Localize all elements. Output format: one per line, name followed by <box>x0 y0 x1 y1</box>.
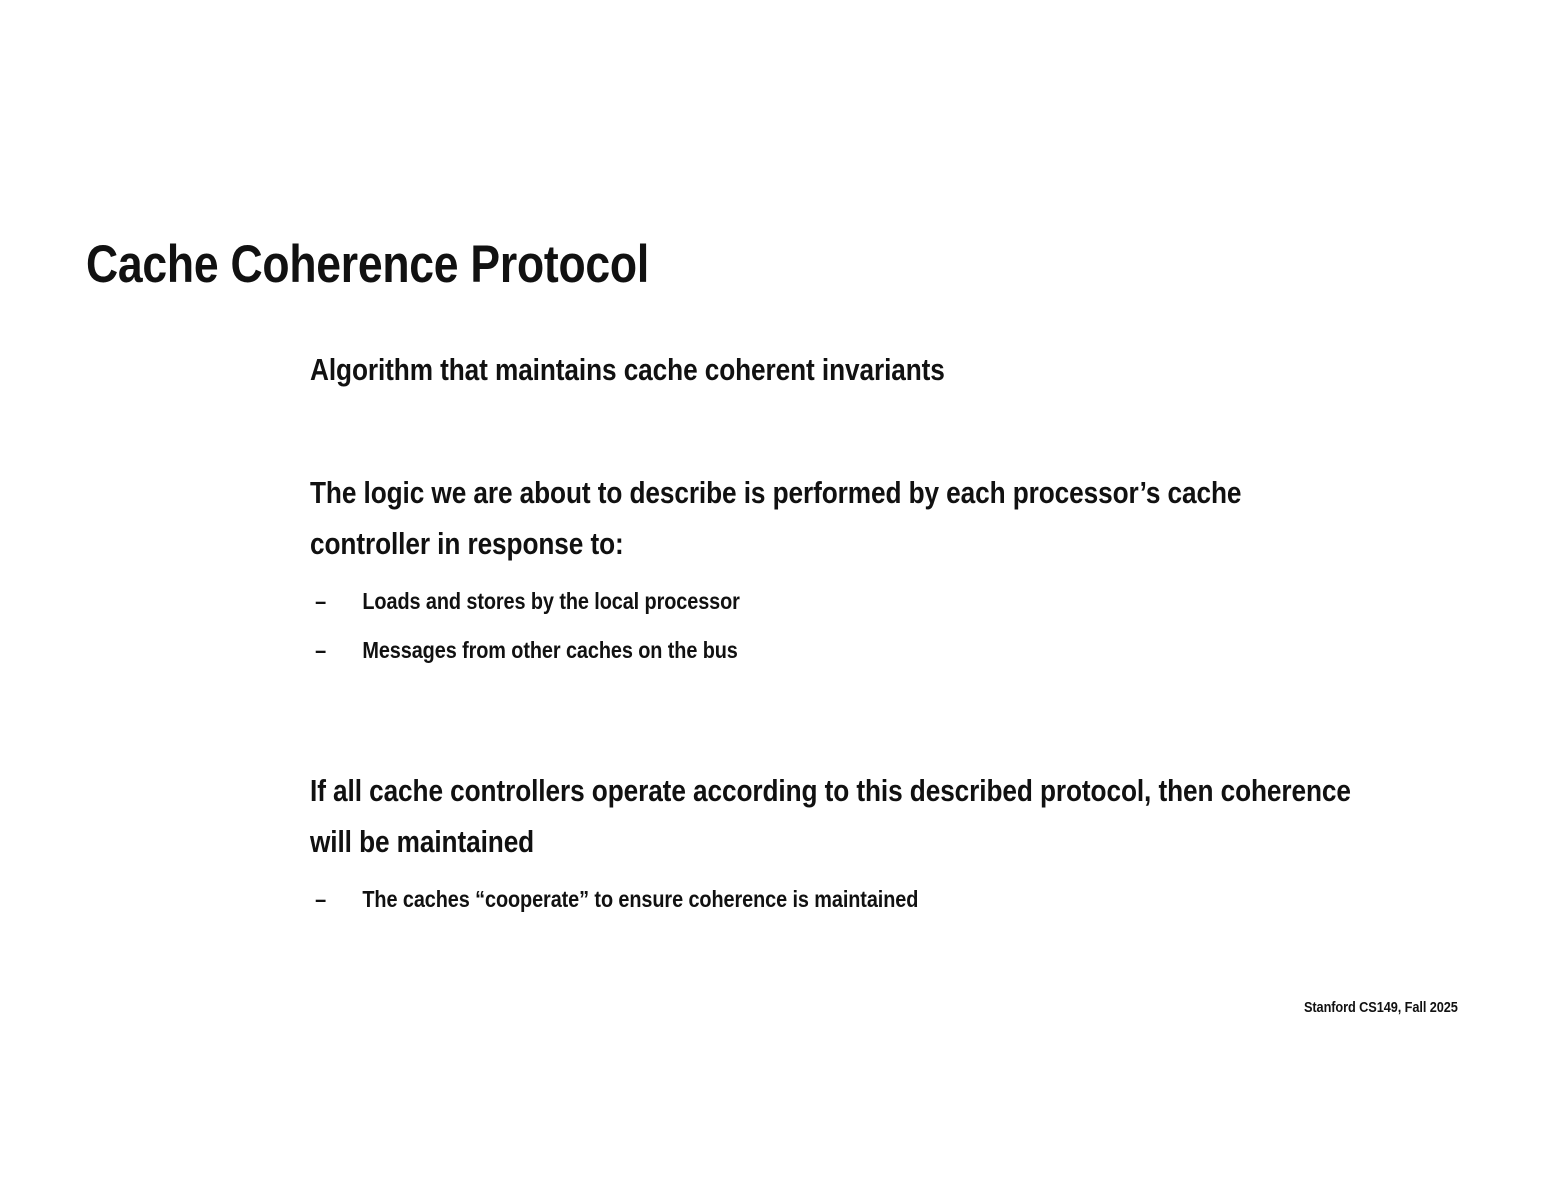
page-title: Cache Coherence Protocol <box>86 234 649 295</box>
list-item: – Loads and stores by the local processo… <box>310 577 1359 626</box>
spacer <box>310 569 1553 577</box>
slide-footer: Stanford CS149, Fall 2025 <box>1304 1000 1458 1016</box>
dash-bullet-icon: – <box>315 577 326 626</box>
list-item-label: The caches “cooperate” to ensure coheren… <box>362 886 918 912</box>
list-item: – Messages from other caches on the bus <box>310 626 1359 675</box>
bullet-level1-coherence: If all cache controllers operate accordi… <box>310 765 1354 867</box>
sublist-cooperate: – The caches “cooperate” to ensure coher… <box>310 875 1553 924</box>
slide-body: Algorithm that maintains cache coherent … <box>310 344 1553 924</box>
bullet-level1-algorithm: Algorithm that maintains cache coherent … <box>310 344 1354 395</box>
spacer <box>310 867 1553 875</box>
slide-canvas: Cache Coherence Protocol Algorithm that … <box>0 0 1553 1200</box>
list-item-label: Messages from other caches on the bus <box>362 637 737 663</box>
sublist-response-to: – Loads and stores by the local processo… <box>310 577 1553 675</box>
spacer <box>310 675 1553 765</box>
spacer <box>310 395 1553 467</box>
list-item: – The caches “cooperate” to ensure coher… <box>310 875 1359 924</box>
dash-bullet-icon: – <box>315 875 326 924</box>
dash-bullet-icon: – <box>315 626 326 675</box>
list-item-label: Loads and stores by the local processor <box>362 588 739 614</box>
bullet-level1-logic: The logic we are about to describe is pe… <box>310 467 1354 569</box>
